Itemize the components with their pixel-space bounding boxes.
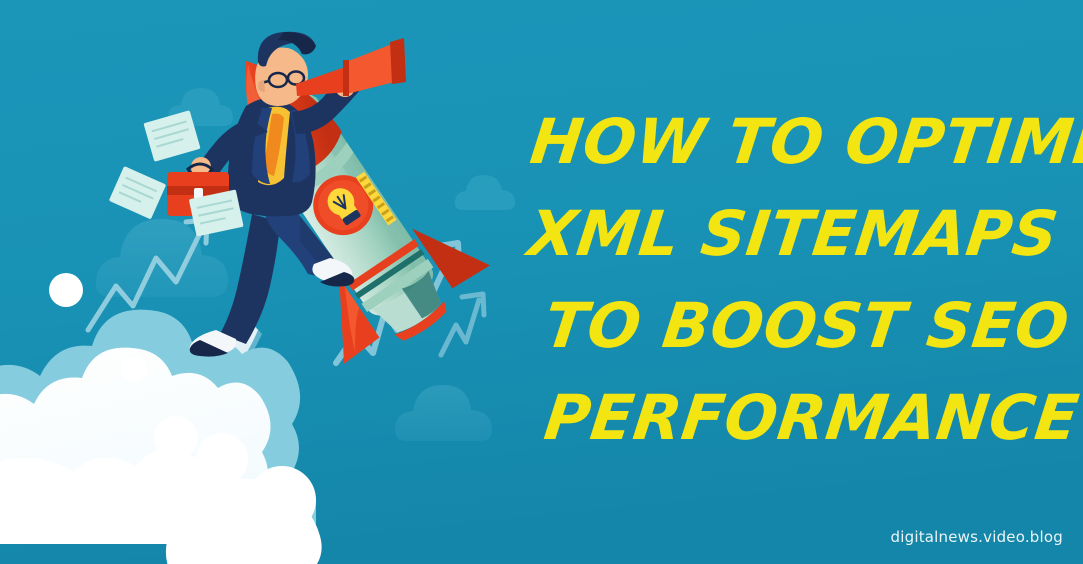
seo-banner: How to Optimize XML Sitemaps to Boost SE… [0,0,1083,564]
illustration [0,0,1083,564]
site-watermark: digitalnews.video.blog [891,528,1063,546]
